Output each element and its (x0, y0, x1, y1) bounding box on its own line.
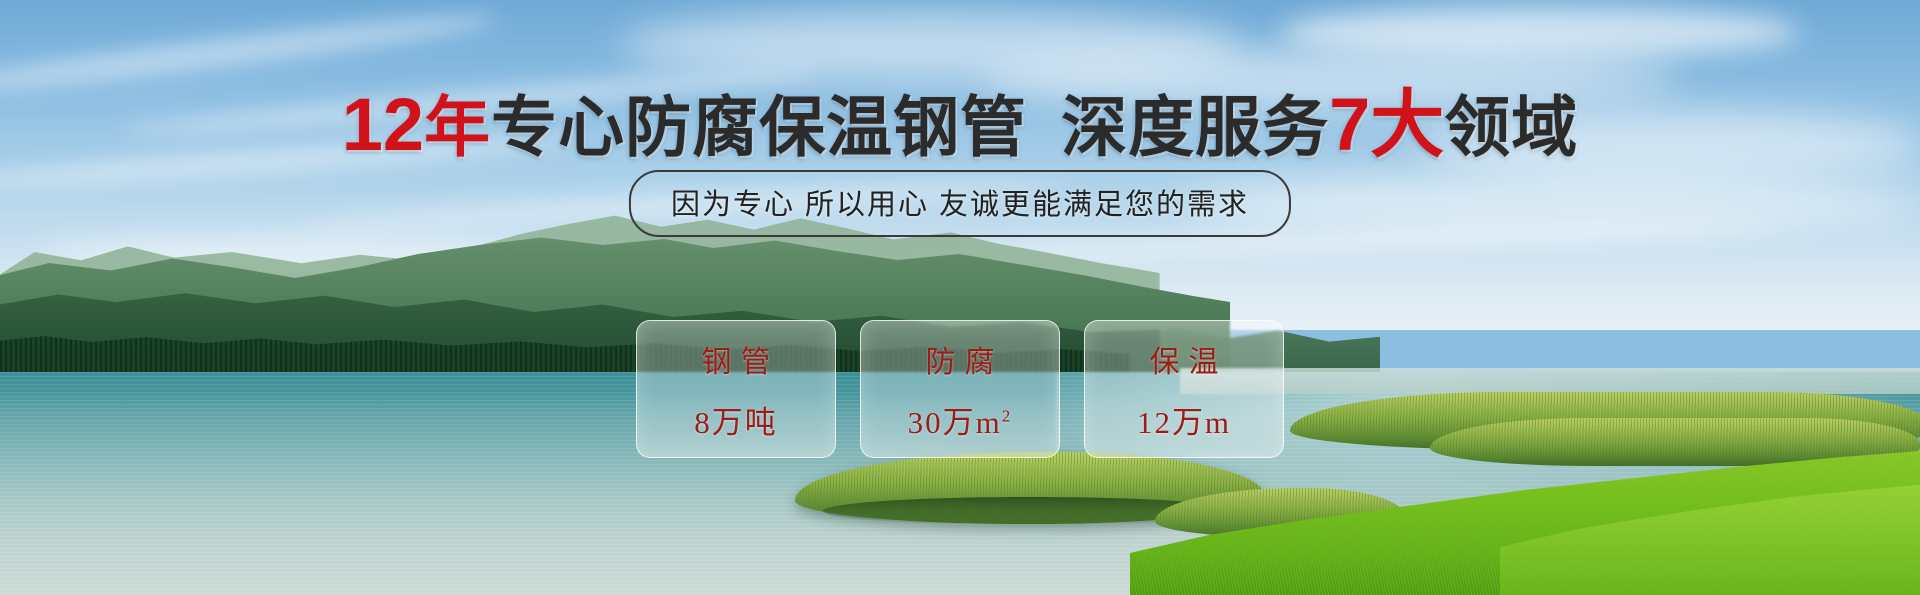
headline-part1: 专心防腐保温钢管 (491, 90, 1027, 164)
stat-card-value-text: 30万m (908, 405, 1002, 440)
hero-banner: 12年专心防腐保温钢管深度服务7大领域 因为专心 所以用心 友诚更能满足您的需求… (0, 0, 1920, 595)
stat-card-value: 30万m2 (908, 397, 1013, 442)
headline-part2: 深度服务 (1061, 90, 1329, 164)
stat-card-label: 钢管 (693, 337, 780, 381)
far-shoreline (1180, 368, 1920, 394)
stat-card-label: 保温 (1141, 337, 1228, 381)
stat-card-insulation[interactable]: 保温 12万m (1084, 320, 1284, 458)
stat-card-label: 防腐 (917, 337, 1004, 381)
subtitle-pill: 因为专心 所以用心 友诚更能满足您的需求 (629, 170, 1291, 237)
headline-highlight: 7大 (1329, 83, 1444, 166)
stat-card-group: 钢管 8万吨 防腐 30万m2 保温 12万m (636, 320, 1284, 458)
stat-card-value-text: 8万吨 (694, 405, 778, 440)
headline-part3: 领域 (1444, 90, 1578, 164)
stat-card-steel-pipe[interactable]: 钢管 8万吨 (636, 320, 836, 458)
stat-card-anticorrosion[interactable]: 防腐 30万m2 (860, 320, 1060, 458)
stat-card-value: 12万m (1137, 397, 1231, 442)
stat-card-value: 8万吨 (694, 397, 778, 442)
stat-card-value-sup: 2 (1002, 406, 1013, 425)
headline-number: 12 (342, 83, 424, 166)
stat-card-value-text: 12万m (1137, 405, 1231, 440)
headline-number-unit: 年 (424, 90, 491, 164)
headline: 12年专心防腐保温钢管深度服务7大领域 (0, 88, 1920, 162)
